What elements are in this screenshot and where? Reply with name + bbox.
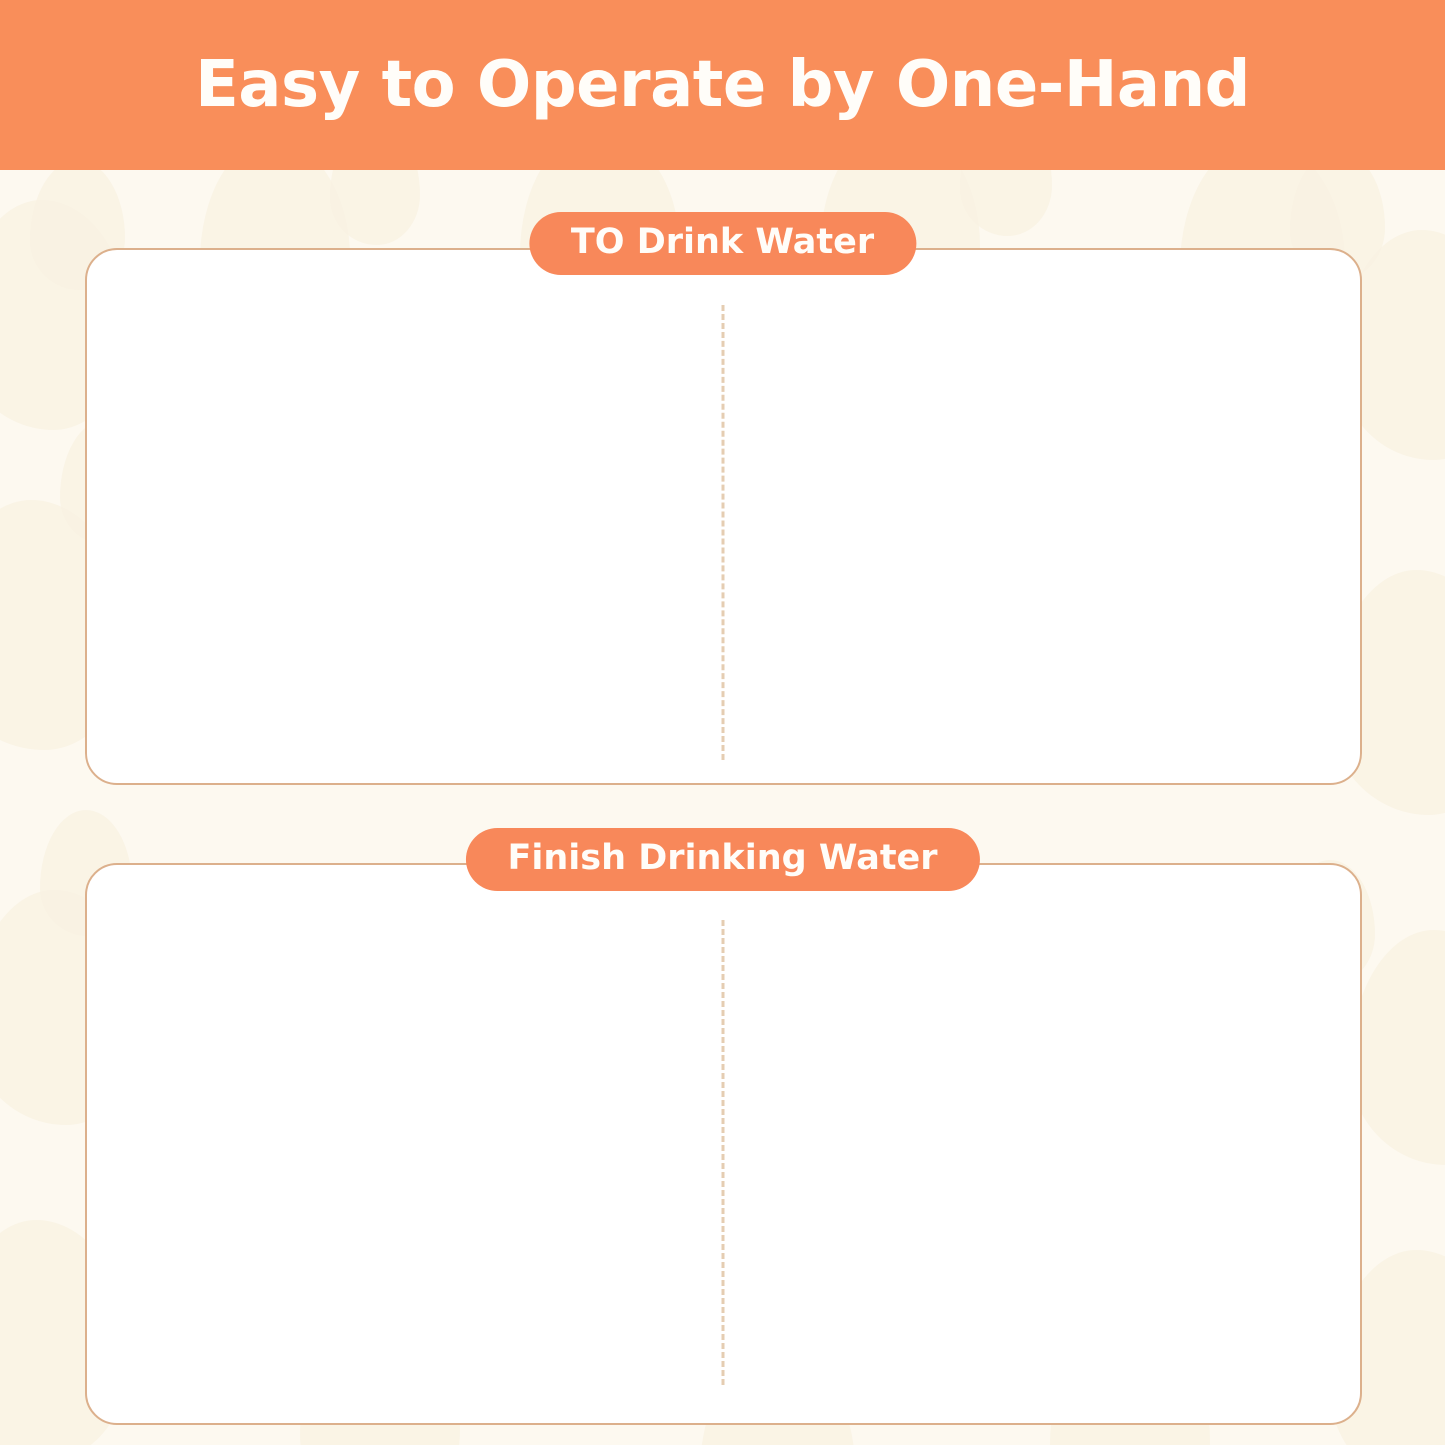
column-divider-finish (721, 920, 724, 1385)
header-banner: Easy to Operate by One-Hand (0, 0, 1445, 170)
page-title: Easy to Operate by One-Hand (195, 53, 1250, 117)
section-badge-finish-drinking: Finish Drinking Water (465, 828, 979, 891)
column-divider-drink (721, 305, 724, 760)
section-badge-drink-water: TO Drink Water (529, 212, 916, 275)
